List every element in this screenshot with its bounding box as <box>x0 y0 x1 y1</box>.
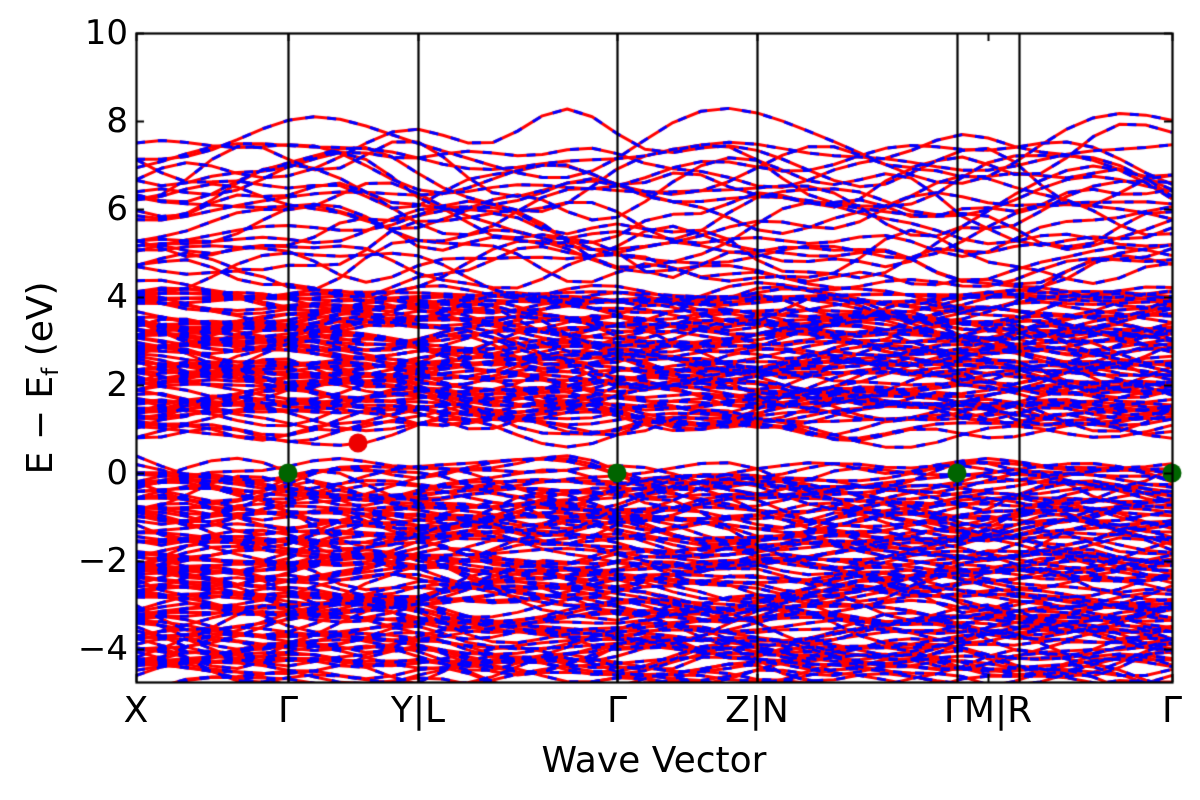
y-tick-label: −4 <box>28 629 128 669</box>
y-tick-label: 4 <box>28 277 128 317</box>
y-tick-label: 6 <box>28 189 128 229</box>
band-structure-plot-canvas <box>0 0 1200 800</box>
y-tick-label: −2 <box>28 541 128 581</box>
x-tick-label: Z|N <box>725 690 789 731</box>
y-tick-label: 0 <box>28 453 128 493</box>
x-axis-label: Wave Vector <box>136 740 1172 781</box>
y-tick-label: 2 <box>28 365 128 405</box>
y-tick-label: 10 <box>28 13 128 53</box>
y-tick-label: 8 <box>28 101 128 141</box>
x-tick-label: Y|L <box>391 690 445 731</box>
y-axis-tick-labels: 1086420−2−4 <box>16 0 128 800</box>
x-tick-label: Γ <box>607 690 627 731</box>
band-structure-figure: E − Ef (eV) Wave Vector 1086420−2−4 XΓY|… <box>0 0 1200 800</box>
x-tick-label: Γ <box>278 690 298 731</box>
x-tick-label: Γ <box>1162 690 1182 731</box>
x-tick-label: ΓM|R <box>944 690 1032 731</box>
x-tick-label: X <box>124 690 149 731</box>
